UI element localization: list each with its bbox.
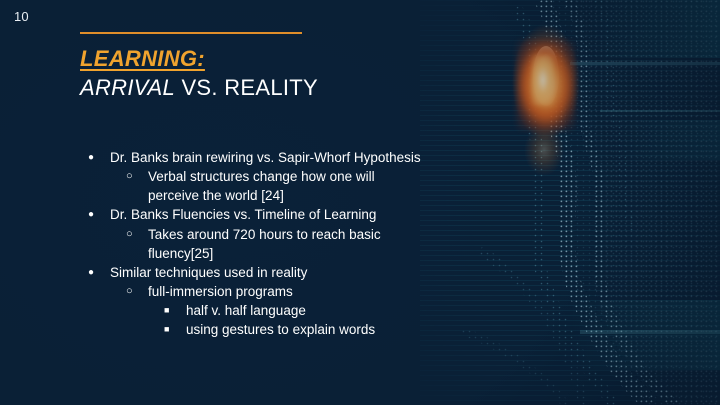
list-item-text: half v. half language [186,301,518,320]
title-block: LEARNING: ARRIVAL VS. REALITY [80,32,318,103]
list-bullet-marker: ■ [164,320,186,339]
list-bullet-marker: ○ [126,167,148,186]
list-item-text: Takes around 720 hours to reach basic [148,225,518,244]
list-item-text: Dr. Banks brain rewiring vs. Sapir-Whorf… [110,148,518,167]
list-item: perceive the world [24] [126,186,518,205]
list-item-text: perceive the world [24] [148,186,518,205]
list-item-text: Verbal structures change how one will [148,167,518,186]
page-subtitle-emphasis: ARRIVAL [80,75,175,100]
list-item: ○Takes around 720 hours to reach basic [126,225,518,244]
list-item: ○full-immersion programs [126,282,518,301]
page-number: 10 [14,9,29,24]
slide: 10 LEARNING: ARRIVAL VS. REALITY ●Dr. Ba… [0,0,720,405]
list-item-text: full-immersion programs [148,282,518,301]
list-item: ●Similar techniques used in reality [88,263,518,282]
page-subtitle-rest: VS. REALITY [175,75,318,100]
list-item-text: fluency[25] [148,244,518,263]
list-item-text: Dr. Banks Fluencies vs. Timeline of Lear… [110,205,518,224]
list-item: ●Dr. Banks Fluencies vs. Timeline of Lea… [88,205,518,224]
list-bullet-marker: ● [88,148,110,167]
list-item: ■half v. half language [164,301,518,320]
list-item-text: Similar techniques used in reality [110,263,518,282]
page-title: LEARNING: [80,46,318,71]
title-divider [80,32,302,34]
list-item: fluency[25] [126,244,518,263]
page-subtitle: ARRIVAL VS. REALITY [80,73,318,103]
list-bullet-marker: ● [88,205,110,224]
list-bullet-marker: ● [88,263,110,282]
list-item: ●Dr. Banks brain rewiring vs. Sapir-Whor… [88,148,518,167]
list-item: ○Verbal structures change how one will [126,167,518,186]
orange-glow-core [532,55,554,105]
list-bullet-marker: ■ [164,301,186,320]
list-bullet-marker: ○ [126,282,148,301]
list-item: ■using gestures to explain words [164,320,518,339]
bullet-list: ●Dr. Banks brain rewiring vs. Sapir-Whor… [88,148,518,340]
list-item-text: using gestures to explain words [186,320,518,339]
list-bullet-marker: ○ [126,225,148,244]
